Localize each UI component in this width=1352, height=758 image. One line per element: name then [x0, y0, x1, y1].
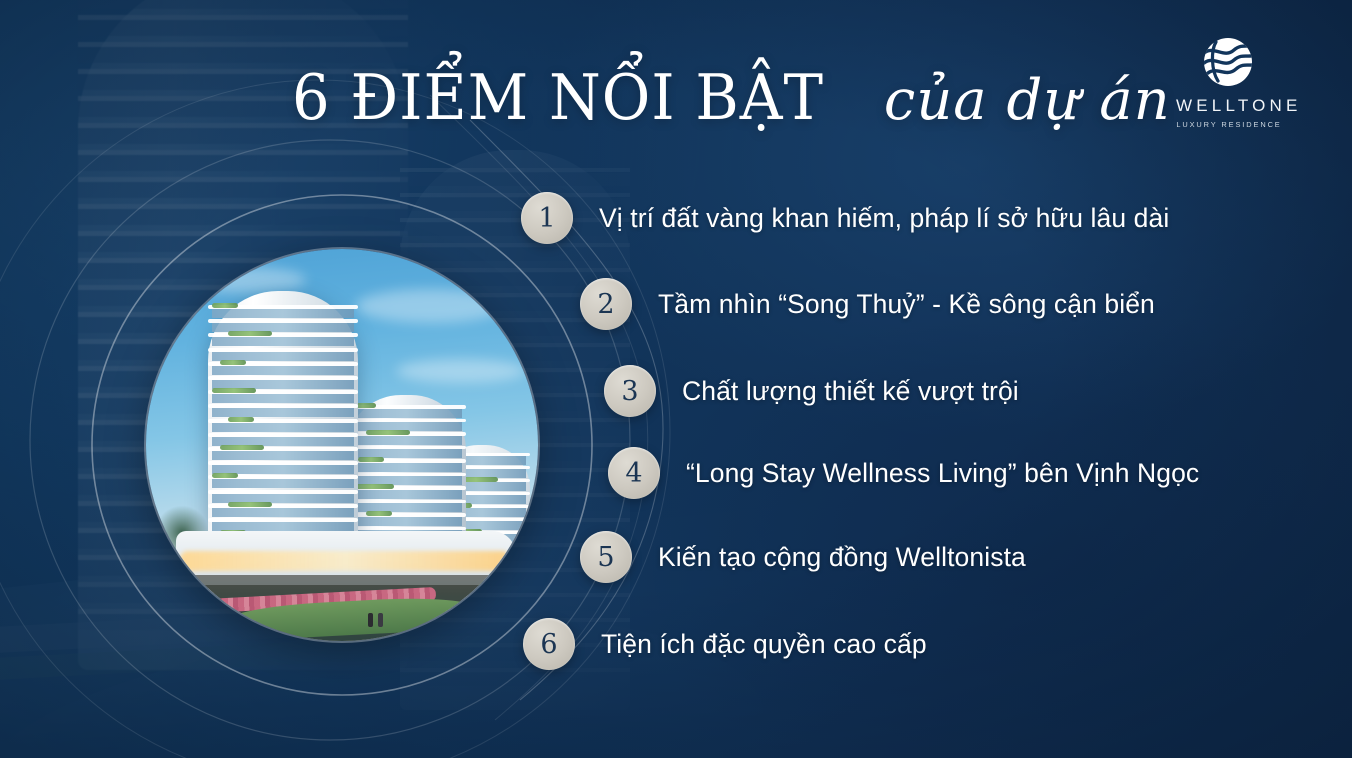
title-script-text: của dự án [884, 68, 1171, 133]
brand-tagline: LUXURY RESIDENCE [1172, 120, 1284, 129]
feature-number-badge: 5 [580, 531, 632, 583]
feature-number-badge: 6 [523, 618, 575, 670]
feature-item-5[interactable]: 5 Kiến tạo cộng đồng Welltonista [580, 531, 1026, 583]
feature-label: Tiện ích đặc quyền cao cấp [601, 629, 927, 660]
hero-cloud [186, 267, 306, 293]
hero-pedestrian [368, 613, 373, 627]
welltone-wave-emblem-icon [1202, 36, 1254, 88]
hero-cloud [356, 289, 506, 323]
brand-logo: WELLTONE LUXURY RESIDENCE [1172, 36, 1284, 129]
title-main-text: 6 ĐIỂM NỔI BẬT [292, 66, 824, 129]
feature-label: Chất lượng thiết kế vượt trội [682, 376, 1019, 407]
brand-name: WELLTONE [1172, 96, 1284, 116]
feature-item-1[interactable]: 1 Vị trí đất vàng khan hiếm, pháp lí sở … [521, 192, 1169, 244]
feature-number-badge: 3 [604, 365, 656, 417]
feature-label: “Long Stay Wellness Living” bên Vịnh Ngọ… [686, 458, 1199, 489]
feature-item-6[interactable]: 6 Tiện ích đặc quyền cao cấp [523, 618, 927, 670]
hero-circle-image [146, 249, 538, 641]
page-title: 6 ĐIỂM NỔI BẬT của dự án [292, 66, 1171, 133]
hero-road [146, 575, 538, 585]
feature-label: Kiến tạo cộng đồng Welltonista [658, 542, 1026, 573]
feature-item-3[interactable]: 3 Chất lượng thiết kế vượt trội [604, 365, 1019, 417]
feature-label: Vị trí đất vàng khan hiếm, pháp lí sở hữ… [599, 203, 1169, 234]
feature-item-4[interactable]: 4 “Long Stay Wellness Living” bên Vịnh N… [608, 447, 1199, 499]
feature-number-badge: 1 [521, 192, 573, 244]
feature-number-badge: 2 [580, 278, 632, 330]
slide-root: 6 ĐIỂM NỔI BẬT của dự án WELLTONE LUXURY… [0, 0, 1352, 758]
hero-retail-lights [180, 551, 510, 571]
hero-pedestrian [378, 613, 383, 627]
hero-cloud [396, 359, 526, 383]
feature-label: Tầm nhìn “Song Thuỷ” - Kề sông cận biển [658, 289, 1155, 320]
feature-number-badge: 4 [608, 447, 660, 499]
feature-item-2[interactable]: 2 Tầm nhìn “Song Thuỷ” - Kề sông cận biể… [580, 278, 1155, 330]
